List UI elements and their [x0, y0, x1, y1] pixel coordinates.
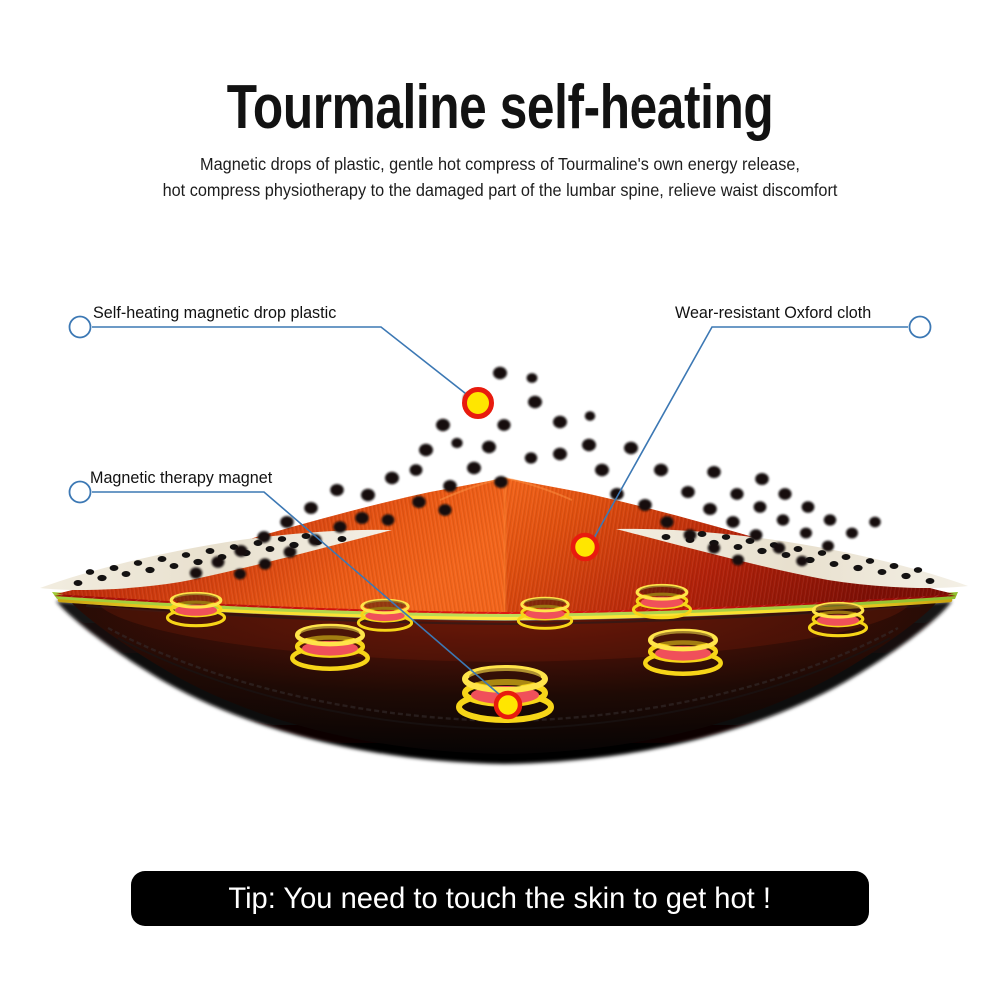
callout-endpoint-markers — [0, 0, 1000, 1000]
infographic-page: Tourmaline self-heating Magnetic drops o… — [0, 0, 1000, 1000]
marker-magnetic-therapy-magnet — [496, 693, 520, 717]
marker-self-heating-drop — [465, 390, 492, 417]
marker-oxford-cloth — [573, 535, 597, 559]
